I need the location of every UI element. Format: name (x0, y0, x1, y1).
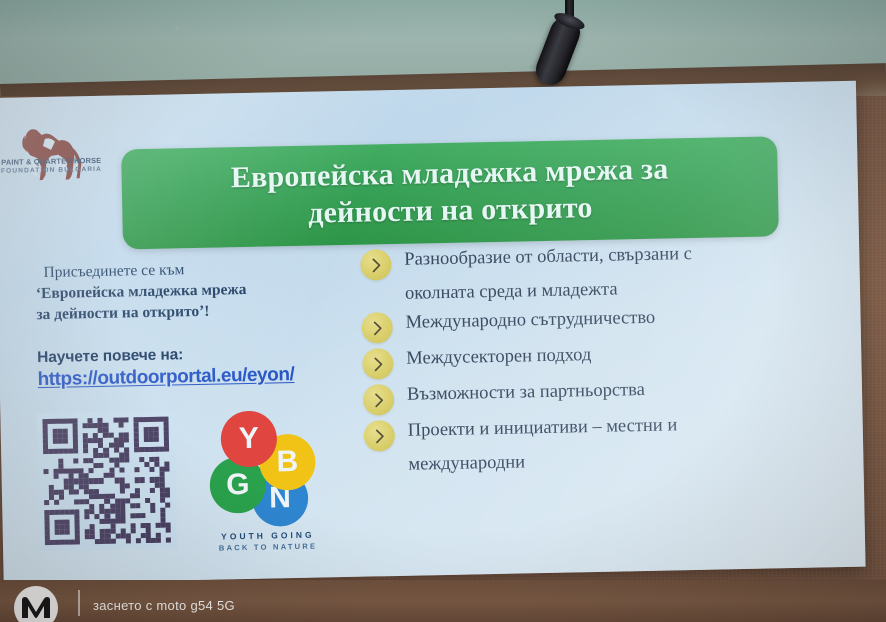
bullet-list: Разнообразие от области, свързани соколн… (360, 239, 835, 482)
outdoor-portal-link[interactable]: https://outdoorportal.eu/eyon/ (37, 363, 352, 391)
chevron-right-icon (364, 420, 396, 452)
photo-screenshot: PAINT & QUARTER HORSE FOUNDATION BULGARI… (0, 0, 886, 622)
watermark-caption: заснето с moto g54 5G (93, 598, 235, 613)
watermark-divider (78, 590, 80, 616)
bullet-item: Възможности за партньорства (363, 374, 834, 415)
projection-screen: PAINT & QUARTER HORSE FOUNDATION BULGARI… (0, 81, 866, 584)
left-column: Присъединете се към ‘Европейска младежка… (35, 257, 353, 392)
slide-content: PAINT & QUARTER HORSE FOUNDATION BULGARI… (0, 81, 866, 584)
ygbn-caption-line-2: BACK TO NATURE (209, 541, 327, 552)
motorola-m-icon (14, 586, 58, 622)
title-line-2: дейности на открито (308, 191, 593, 230)
ygbn-logo: Y B G N YOUTH GOING BACK TO NATURE (206, 407, 327, 549)
bullet-item: Разнообразие от области, свързани с (360, 239, 831, 280)
bullet-continuation: международни (408, 446, 834, 476)
bullet-text: Разнообразие от области, свързани с (404, 242, 692, 271)
qr-code-icon[interactable] (36, 410, 177, 551)
chevron-right-icon (363, 384, 395, 416)
bullet-text: Междусекторен подход (406, 343, 591, 370)
bullet-text: Проекти и инициативи – местни и (408, 413, 678, 441)
slide-title-banner: Европейска младежка мрежа за дейности на… (121, 136, 779, 249)
chevron-right-icon (360, 249, 392, 281)
ygbn-caption-line-1: YOUTH GOING (209, 529, 327, 541)
join-invitation-text: Присъединете се към ‘Европейска младежка… (35, 257, 351, 326)
bullet-text: Възможности за партньорства (407, 378, 645, 406)
bullet-item: Международно сътрудничество (361, 302, 832, 343)
chevron-right-icon (361, 312, 393, 344)
qr-modules (42, 417, 171, 546)
bullet-item: Проекти и инициативи – местни и (364, 410, 835, 451)
bullet-item: Междусекторен подход (362, 338, 833, 379)
page-title: Европейска младежка мрежа за дейности на… (230, 152, 669, 234)
chevron-right-icon (362, 348, 394, 380)
bullet-continuation: околната среда и младежта (405, 275, 831, 305)
bullet-text: Международно сътрудничество (405, 306, 655, 334)
title-line-1: Европейска младежка мрежа за (231, 153, 669, 195)
